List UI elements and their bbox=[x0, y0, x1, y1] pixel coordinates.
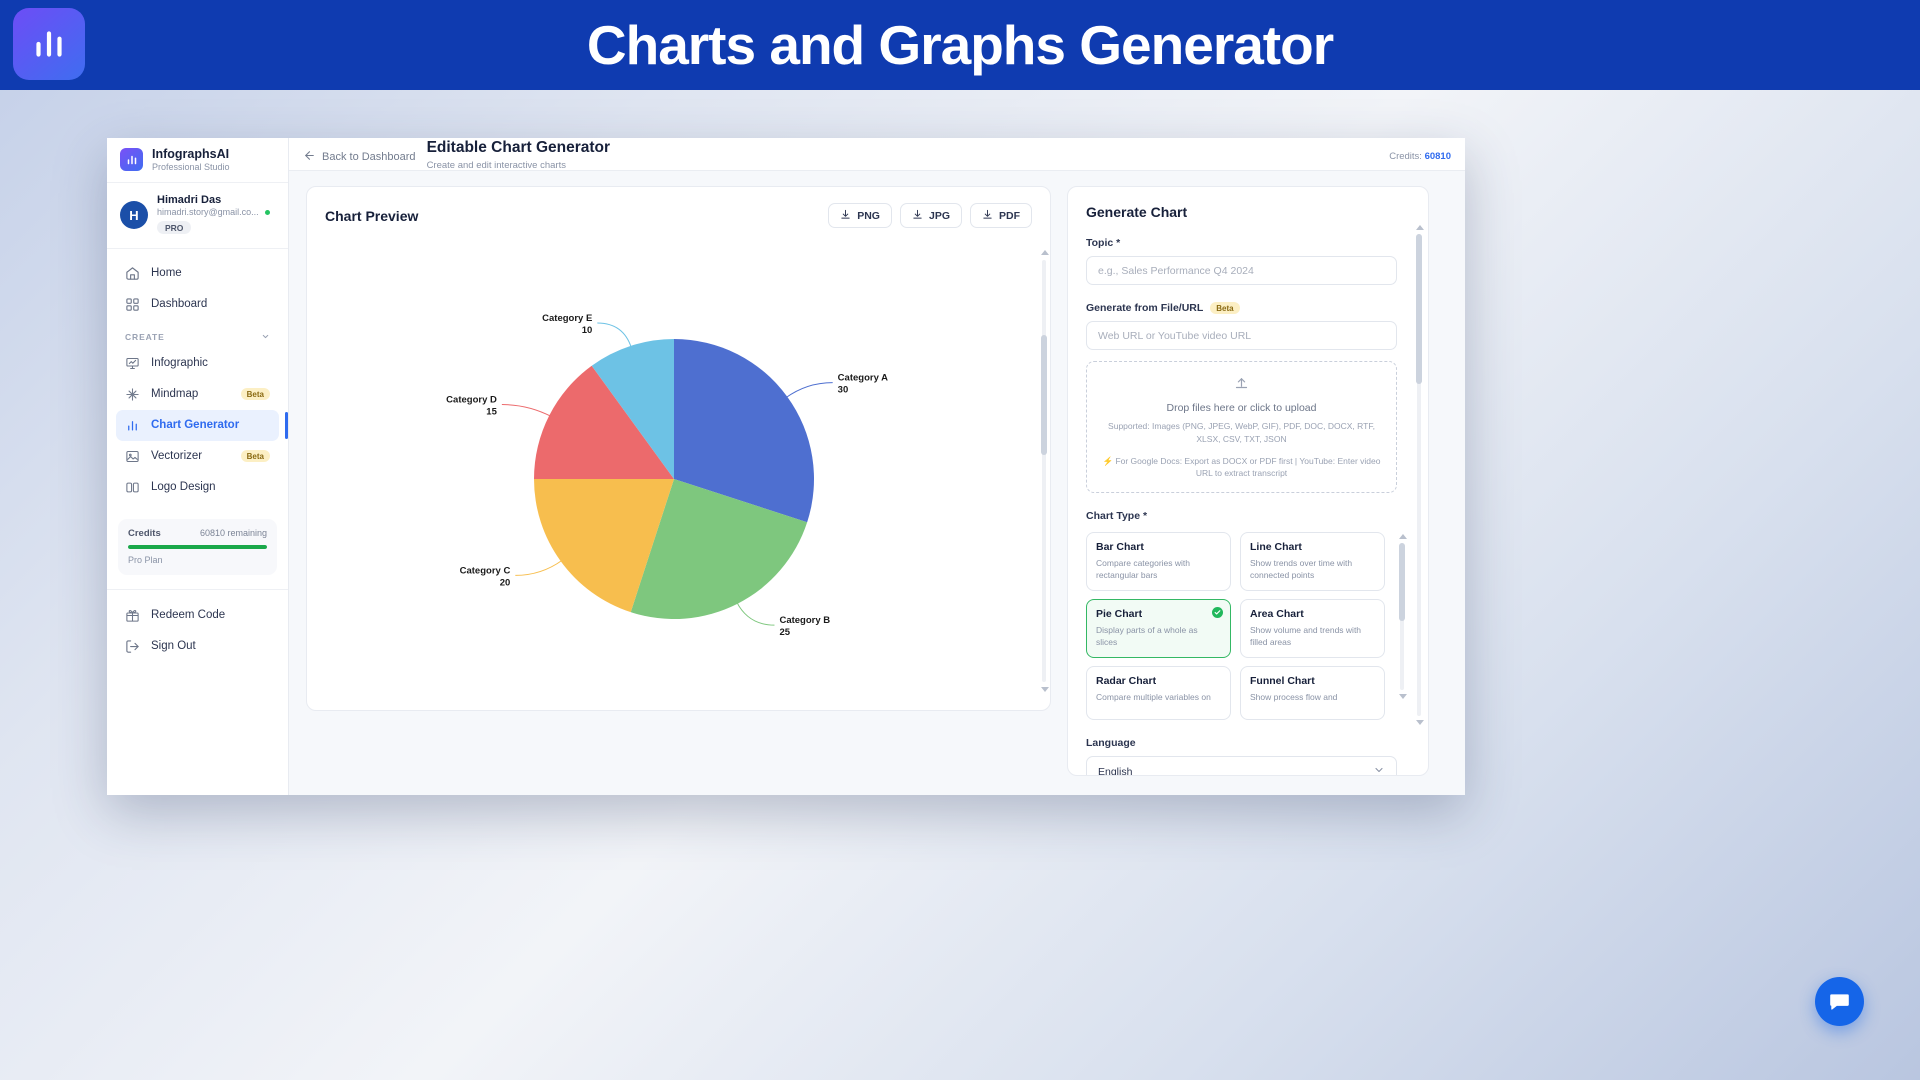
sidebar-item-label: Sign Out bbox=[151, 640, 196, 652]
sidebar-item-mindmap[interactable]: Mindmap Beta bbox=[116, 379, 279, 410]
sidebar-item-dashboard[interactable]: Dashboard bbox=[116, 289, 279, 320]
file-dropzone[interactable]: Drop files here or click to upload Suppo… bbox=[1086, 361, 1397, 493]
image-icon bbox=[125, 449, 140, 464]
export-pdf-button[interactable]: PDF bbox=[970, 203, 1032, 228]
language-label: Language bbox=[1086, 737, 1410, 749]
file-url-label-text: Generate from File/URL bbox=[1086, 302, 1203, 314]
chart-canvas-area: Category A30Category B25Category C20Cate… bbox=[307, 235, 1052, 712]
credits-progress-bar bbox=[128, 545, 267, 549]
chevron-down-icon bbox=[1373, 764, 1385, 776]
pie-slice-label: Category C bbox=[460, 565, 511, 576]
beta-badge: Beta bbox=[241, 388, 270, 400]
chart-type-desc: Show process flow and bbox=[1250, 691, 1375, 703]
topbar-credits-value: 60810 bbox=[1425, 151, 1451, 162]
chart-type-scrollbar[interactable] bbox=[1399, 534, 1405, 699]
pro-badge: PRO bbox=[157, 221, 191, 234]
upload-icon bbox=[1101, 375, 1382, 395]
chart-scrollbar[interactable] bbox=[1041, 250, 1047, 692]
credits-card: Credits 60810 remaining Pro Plan bbox=[118, 519, 277, 575]
download-icon bbox=[982, 209, 993, 223]
pie-leader-line bbox=[502, 405, 551, 417]
sign-out-icon bbox=[125, 639, 140, 654]
sidebar-nav-bottom: Redeem Code Sign Out bbox=[107, 589, 288, 662]
sidebar-item-logo-design[interactable]: Logo Design bbox=[116, 472, 279, 503]
chart-type-name: Radar Chart bbox=[1096, 675, 1221, 687]
chart-type-desc: Compare categories with rectangular bars bbox=[1096, 557, 1221, 581]
gift-icon bbox=[125, 608, 140, 623]
chart-type-grid: Bar Chart Compare categories with rectan… bbox=[1086, 532, 1397, 720]
export-png-label: PNG bbox=[857, 210, 880, 222]
export-pdf-label: PDF bbox=[999, 210, 1020, 222]
pie-leader-line bbox=[786, 383, 833, 398]
scrollbar-track[interactable] bbox=[1042, 260, 1046, 682]
topbar-credits: Credits: 60810 bbox=[1389, 151, 1451, 162]
chart-type-selector: Bar Chart Compare categories with rectan… bbox=[1086, 532, 1397, 720]
language-value: English bbox=[1098, 766, 1132, 776]
chat-bubble-icon bbox=[1828, 990, 1851, 1013]
pie-leader-line bbox=[737, 602, 775, 625]
sidebar-item-sign-out[interactable]: Sign Out bbox=[116, 631, 279, 662]
pie-slice-value: 30 bbox=[838, 385, 849, 396]
sidebar-item-label: Infographic bbox=[151, 357, 208, 369]
beta-badge: Beta bbox=[241, 450, 270, 462]
chat-support-button[interactable] bbox=[1815, 977, 1864, 1026]
logo-icon bbox=[125, 480, 140, 495]
pie-slice-label: Category D bbox=[446, 395, 497, 406]
export-png-button[interactable]: PNG bbox=[828, 203, 892, 228]
export-jpg-label: JPG bbox=[929, 210, 950, 222]
online-status-dot bbox=[265, 210, 270, 215]
user-profile[interactable]: H Himadri Das himadri.story@gmail.co... … bbox=[107, 183, 288, 249]
pie-slice-value: 25 bbox=[779, 627, 790, 638]
pie-leader-line bbox=[515, 560, 562, 575]
brand-name: InfographsAI bbox=[152, 147, 230, 161]
scroll-down-caret-icon[interactable] bbox=[1041, 687, 1049, 692]
chart-preview-title: Chart Preview bbox=[325, 208, 418, 224]
scrollbar-thumb[interactable] bbox=[1399, 543, 1405, 621]
pie-slice-value: 20 bbox=[500, 577, 511, 588]
url-input[interactable] bbox=[1086, 321, 1397, 350]
sparkle-icon bbox=[125, 387, 140, 402]
language-select[interactable]: English bbox=[1086, 756, 1397, 776]
file-url-label: Generate from File/URL Beta bbox=[1086, 302, 1410, 314]
export-jpg-button[interactable]: JPG bbox=[900, 203, 962, 228]
brand-subtitle: Professional Studio bbox=[152, 162, 230, 172]
user-name: Himadri Das bbox=[157, 194, 270, 206]
sidebar-nav: Home Dashboard CREATE bbox=[107, 249, 288, 503]
arrow-left-icon bbox=[303, 149, 316, 165]
beta-badge: Beta bbox=[1210, 302, 1239, 314]
credits-plan: Pro Plan bbox=[128, 555, 267, 565]
chart-type-name: Line Chart bbox=[1250, 541, 1375, 553]
brand-logo-icon bbox=[120, 148, 143, 171]
home-icon bbox=[125, 266, 140, 281]
chart-type-name: Bar Chart bbox=[1096, 541, 1221, 553]
user-email: himadri.story@gmail.co... bbox=[157, 207, 259, 217]
credits-progress-fill bbox=[128, 545, 267, 549]
scrollbar-thumb[interactable] bbox=[1416, 234, 1422, 384]
chart-type-funnel-chart[interactable]: Funnel Chart Show process flow and bbox=[1240, 666, 1385, 720]
scroll-down-caret-icon[interactable] bbox=[1399, 694, 1407, 699]
pie-chart: Category A30Category B25Category C20Cate… bbox=[307, 235, 1052, 712]
chart-type-radar-chart[interactable]: Radar Chart Compare multiple variables o… bbox=[1086, 666, 1231, 720]
chart-type-desc: Compare multiple variables on bbox=[1096, 691, 1221, 703]
pie-slice-label: Category B bbox=[779, 615, 830, 626]
page-title: Editable Chart Generator bbox=[427, 140, 610, 156]
chart-type-label: Chart Type * bbox=[1086, 510, 1410, 522]
chart-type-desc: Show volume and trends with filled areas bbox=[1250, 624, 1375, 648]
pie-slice-value: 10 bbox=[582, 325, 593, 336]
chart-type-bar-chart[interactable]: Bar Chart Compare categories with rectan… bbox=[1086, 532, 1231, 591]
back-to-dashboard-label: Back to Dashboard bbox=[322, 151, 416, 163]
topic-label: Topic * bbox=[1086, 237, 1410, 249]
sidebar-item-chart-generator[interactable]: Chart Generator bbox=[116, 410, 279, 441]
sidebar-item-redeem-code[interactable]: Redeem Code bbox=[116, 600, 279, 631]
sidebar-section-label: CREATE bbox=[125, 332, 165, 342]
chart-type-line-chart[interactable]: Line Chart Show trends over time with co… bbox=[1240, 532, 1385, 591]
avatar: H bbox=[120, 201, 148, 229]
dropzone-note-text: ⚡ For Google Docs: Export as DOCX or PDF… bbox=[1101, 455, 1382, 481]
chart-type-desc: Display parts of a whole as slices bbox=[1096, 624, 1221, 648]
pie-slice-label: Category A bbox=[838, 373, 888, 384]
pie-slice-value: 15 bbox=[486, 407, 497, 418]
back-to-dashboard-button[interactable]: Back to Dashboard bbox=[303, 149, 416, 165]
sidebar-item-label: Logo Design bbox=[151, 481, 216, 493]
panel-scrollbar[interactable] bbox=[1416, 225, 1422, 725]
chart-type-pie-chart[interactable]: Pie Chart Display parts of a whole as sl… bbox=[1086, 599, 1231, 658]
sidebar-section-create[interactable]: CREATE bbox=[116, 320, 279, 348]
banner-title: Charts and Graphs Generator bbox=[587, 13, 1333, 77]
scroll-up-caret-icon[interactable] bbox=[1399, 534, 1407, 539]
topbar: Back to Dashboard Editable Chart Generat… bbox=[289, 138, 1465, 171]
sidebar-item-label: Vectorizer bbox=[151, 450, 202, 462]
page-subtitle: Create and edit interactive charts bbox=[427, 160, 610, 171]
sidebar-item-label: Dashboard bbox=[151, 298, 207, 310]
chart-type-desc: Show trends over time with connected poi… bbox=[1250, 557, 1375, 581]
sidebar-item-infographic[interactable]: Infographic bbox=[116, 348, 279, 379]
app-window: InfographsAI Professional Studio H Himad… bbox=[107, 138, 1465, 795]
pie-chart-svg: Category A30Category B25Category C20Cate… bbox=[307, 235, 1052, 712]
chart-type-name: Funnel Chart bbox=[1250, 675, 1375, 687]
topic-input[interactable] bbox=[1086, 256, 1397, 285]
banner-logo bbox=[13, 8, 85, 80]
sidebar-item-label: Home bbox=[151, 267, 182, 279]
workspace: Chart Preview PNG JPG bbox=[289, 171, 1465, 795]
chart-type-area-chart[interactable]: Area Chart Show volume and trends with f… bbox=[1240, 599, 1385, 658]
download-icon bbox=[912, 209, 923, 223]
pie-slice-label: Category E bbox=[542, 313, 592, 324]
infographic-icon bbox=[125, 356, 140, 371]
sidebar-item-label: Chart Generator bbox=[151, 419, 239, 431]
dropzone-main-text: Drop files here or click to upload bbox=[1101, 402, 1382, 414]
check-circle-icon bbox=[1212, 607, 1223, 618]
scroll-up-caret-icon[interactable] bbox=[1041, 250, 1049, 255]
sidebar-item-label: Mindmap bbox=[151, 388, 198, 400]
brand-block: InfographsAI Professional Studio bbox=[107, 138, 288, 183]
grid-icon bbox=[125, 297, 140, 312]
page-banner: Charts and Graphs Generator bbox=[0, 0, 1920, 90]
chart-type-name: Pie Chart bbox=[1096, 608, 1221, 620]
scroll-up-caret-icon[interactable] bbox=[1416, 225, 1424, 230]
export-button-group: PNG JPG PDF bbox=[828, 203, 1032, 228]
sidebar-item-home[interactable]: Home bbox=[116, 258, 279, 289]
chevron-down-icon bbox=[261, 332, 270, 343]
bar-chart-icon bbox=[125, 418, 140, 433]
credits-label: Credits bbox=[128, 528, 161, 539]
sidebar-item-label: Redeem Code bbox=[151, 609, 225, 621]
download-icon bbox=[840, 209, 851, 223]
scrollbar-thumb[interactable] bbox=[1041, 335, 1047, 455]
chart-type-name: Area Chart bbox=[1250, 608, 1375, 620]
dropzone-supported-text: Supported: Images (PNG, JPEG, WebP, GIF)… bbox=[1101, 420, 1382, 446]
scroll-down-caret-icon[interactable] bbox=[1416, 720, 1424, 725]
topbar-credits-label: Credits: bbox=[1389, 151, 1422, 162]
credits-amount: 60810 remaining bbox=[200, 528, 267, 538]
sidebar: InfographsAI Professional Studio H Himad… bbox=[107, 138, 289, 795]
chart-preview-card: Chart Preview PNG JPG bbox=[306, 186, 1051, 711]
sidebar-item-vectorizer[interactable]: Vectorizer Beta bbox=[116, 441, 279, 472]
generate-chart-title: Generate Chart bbox=[1086, 204, 1410, 220]
pie-leader-line bbox=[597, 323, 631, 348]
generate-chart-panel: Generate Chart Topic * Generate from Fil… bbox=[1067, 186, 1429, 776]
